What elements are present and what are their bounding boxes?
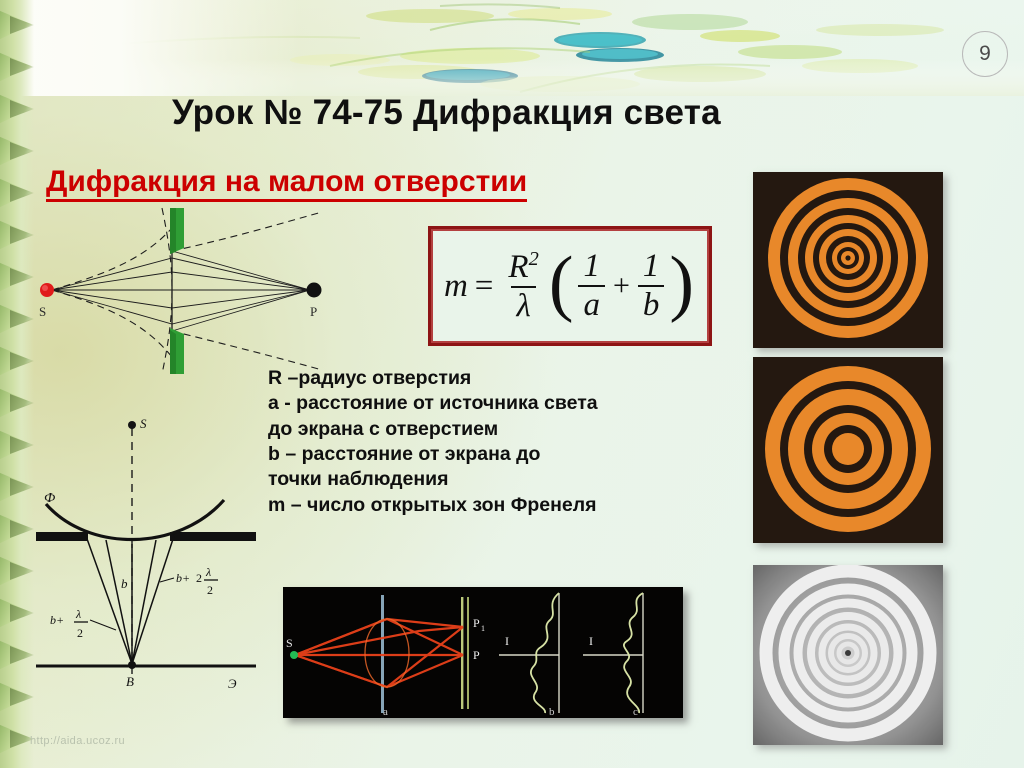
svg-text:λ: λ: [205, 565, 211, 579]
formula-open-paren: (: [549, 257, 574, 310]
fresnel-b-plus-2half-lambda: b+ 2 λ 2: [160, 565, 218, 597]
legend-line: a - расстояние от источника света: [268, 391, 598, 416]
photo-p-label: P: [473, 648, 480, 662]
formula-one-over-a: 1 a: [578, 250, 605, 322]
page-number-value: 9: [979, 42, 991, 66]
fresnel-zone-formula: m = R2 λ ( 1 a + 1 b ): [428, 226, 712, 346]
formula-lhs: m: [444, 268, 468, 305]
legend-line: точки наблюдения: [268, 467, 598, 492]
page-number: 9: [962, 31, 1008, 77]
watermark-url: http://aida.ucoz.ru: [30, 735, 125, 747]
photo-source-label: S: [286, 636, 293, 650]
page-title: Урок № 74-75 Дифракция света: [172, 93, 721, 133]
ray-source-label: S: [39, 304, 46, 319]
aperture-ray-diagram: S P: [22, 206, 372, 376]
formula-legend: R –радиус отверстия a - расстояние от ис…: [268, 366, 598, 518]
fresnel-screen-label: Э: [228, 676, 237, 691]
formula-r2-over-lambda: R2 λ: [503, 249, 543, 323]
svg-text:2: 2: [196, 571, 202, 585]
formula-equals: =: [475, 268, 494, 305]
interference-photo: S P 1 P I I a b c: [283, 587, 683, 718]
fresnel-b-label: b: [121, 576, 128, 591]
svg-text:λ: λ: [75, 607, 81, 621]
photo-caption-c: c: [633, 706, 638, 718]
slide-root: 9 Урок № 74-75 Дифракция света Дифракция…: [0, 0, 1024, 768]
legend-line: m – число открытых зон Френеля: [268, 493, 598, 518]
diffraction-pattern-few-rings: [753, 357, 943, 543]
fresnel-zone-sketch: S Ф b b+ λ 2: [28, 392, 264, 704]
svg-text:2: 2: [207, 583, 213, 597]
fresnel-b-plus-half-lambda: b+ λ 2: [50, 607, 116, 640]
photo-caption-a: a: [383, 706, 388, 718]
section-subtitle: Дифракция на малом отверстии: [46, 166, 527, 202]
fresnel-source-label: S: [140, 416, 147, 431]
formula-close-paren: ): [669, 257, 694, 310]
formula-term1-num: 1: [578, 250, 605, 285]
formula-one-over-b: 1 b: [638, 250, 665, 322]
formula-term1-den: a: [578, 285, 605, 323]
legend-line: R –радиус отверстия: [268, 366, 598, 391]
ray-point-label: P: [310, 304, 317, 319]
formula-denominator: λ: [511, 286, 535, 324]
formula-term2-num: 1: [638, 250, 665, 285]
legend-line: b – расстояние от экрана до: [268, 442, 598, 467]
intensity-label-b: I: [505, 634, 509, 648]
formula-numerator: R2: [503, 249, 543, 286]
fresnel-b-point-label: B: [126, 674, 134, 689]
decorative-top-banner: [0, 0, 1024, 96]
svg-text:b+: b+: [176, 571, 190, 585]
svg-text:b+: b+: [50, 613, 64, 627]
formula-plus: +: [613, 269, 630, 303]
legend-line: до экрана с отверстием: [268, 417, 598, 442]
fresnel-wavefront-label: Ф: [44, 491, 55, 506]
diffraction-photo-grayscale: [753, 565, 943, 745]
photo-caption-b: b: [549, 706, 555, 718]
formula-term2-den: b: [638, 285, 665, 323]
intensity-label-c: I: [589, 634, 593, 648]
svg-text:1: 1: [481, 624, 485, 633]
svg-text:P: P: [473, 616, 480, 630]
svg-text:2: 2: [77, 626, 83, 640]
diffraction-pattern-many-rings: [753, 172, 943, 348]
